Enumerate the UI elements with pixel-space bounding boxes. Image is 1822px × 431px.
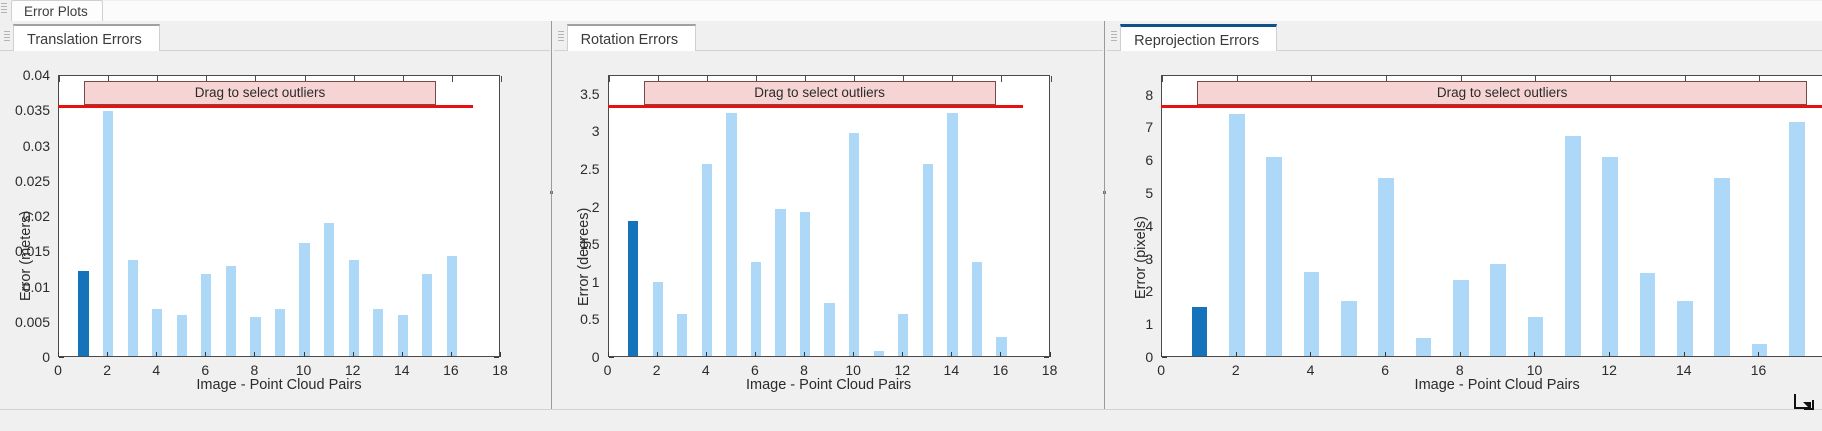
bar[interactable] — [1789, 122, 1805, 356]
x-tick-mark — [951, 352, 952, 357]
bar[interactable] — [299, 243, 309, 357]
x-tick-label: 10 — [296, 362, 312, 378]
y-tick-mark-right — [1044, 357, 1049, 358]
y-tick-label: 0.02 — [0, 208, 50, 224]
bar[interactable] — [726, 113, 736, 356]
x-tick-mark — [1534, 352, 1535, 357]
plot-rotation-errors: Error (degrees) 00.511.522.533.5 Drag to… — [554, 51, 1104, 409]
bar[interactable] — [226, 266, 236, 356]
bar[interactable] — [349, 260, 359, 356]
bar[interactable] — [1229, 114, 1245, 356]
panel-1-tabbar: Translation Errors — [0, 21, 550, 51]
bar[interactable] — [874, 351, 884, 356]
bar[interactable] — [1341, 301, 1357, 356]
x-tick-mark — [1000, 352, 1001, 357]
y-tick-label: 7 — [1107, 119, 1153, 135]
x-tick-mark — [205, 352, 206, 357]
top-tick-mark — [609, 76, 610, 82]
x-tick-label: 18 — [1042, 362, 1058, 378]
y-tick-mark-right — [494, 357, 499, 358]
x-tick-label: 0 — [1157, 362, 1165, 378]
panel-translation-errors: Translation Errors Error (meters) 00.005… — [0, 21, 550, 409]
y-tick-label: 0 — [554, 349, 600, 365]
bar[interactable] — [1490, 264, 1506, 356]
bar[interactable] — [373, 309, 383, 356]
y-tick-label: 4 — [1107, 218, 1153, 234]
y-tick-label: 6 — [1107, 152, 1153, 168]
y-tick-label: 3.5 — [554, 86, 600, 102]
bar[interactable] — [1266, 157, 1282, 356]
x-tick-mark — [902, 352, 903, 357]
axes-3 — [1161, 75, 1822, 357]
panel-3-tabbar: Reprojection Errors — [1107, 21, 1822, 51]
bar[interactable] — [324, 223, 334, 356]
y-tick-label: 0.015 — [0, 243, 50, 259]
x-tick-label: 6 — [1381, 362, 1389, 378]
x-tick-label: 6 — [751, 362, 759, 378]
threshold-line-2[interactable] — [608, 105, 1023, 108]
panel-3-drag-grip-icon[interactable] — [1111, 31, 1117, 43]
bar[interactable] — [1416, 338, 1432, 356]
bar[interactable] — [800, 212, 810, 356]
x-tick-label: 16 — [443, 362, 459, 378]
bottom-status-strip — [0, 409, 1822, 431]
y-tick-label: 1 — [554, 274, 600, 290]
bar[interactable] — [250, 317, 260, 356]
x-tick-mark — [304, 352, 305, 357]
x-tick-label: 2 — [103, 362, 111, 378]
tab-translation-errors[interactable]: Translation Errors — [13, 24, 160, 51]
bar[interactable] — [422, 274, 432, 356]
x-tick-mark — [804, 352, 805, 357]
outlier-selection-band-1[interactable]: Drag to select outliers — [84, 81, 436, 105]
x-tick-mark — [1310, 352, 1311, 357]
y-tick-label: 2.5 — [554, 161, 600, 177]
x-tick-label: 16 — [993, 362, 1009, 378]
y-tick-label: 8 — [1107, 87, 1153, 103]
x-tick-label: 10 — [1527, 362, 1543, 378]
bar[interactable] — [972, 262, 982, 356]
x-tick-mark — [500, 352, 501, 357]
x-tick-label: 2 — [653, 362, 661, 378]
bar[interactable] — [1453, 280, 1469, 356]
x-tick-mark — [1460, 352, 1461, 357]
panel-1-drag-grip-icon[interactable] — [4, 31, 10, 43]
outlier-selection-band-3[interactable]: Drag to select outliers — [1197, 81, 1807, 105]
top-tick-mark — [1162, 76, 1163, 82]
bar[interactable] — [653, 282, 663, 356]
y-tick-label: 0.01 — [0, 279, 50, 295]
x-tick-label: 2 — [1232, 362, 1240, 378]
top-tick-mark — [1001, 76, 1002, 82]
error-plots-window: Error Plots Translation Errors Error (me… — [0, 0, 1822, 430]
x-tick-mark — [1684, 352, 1685, 357]
x-tick-mark — [657, 352, 658, 357]
bar[interactable] — [1528, 317, 1544, 356]
y-tick-label: 5 — [1107, 185, 1153, 201]
x-tick-label: 12 — [894, 362, 910, 378]
y-tick-label: 3 — [1107, 251, 1153, 267]
bar[interactable] — [177, 315, 187, 356]
panel-reprojection-errors: Reprojection Errors Error (pixels) 01234… — [1107, 21, 1822, 409]
x-tick-mark — [1385, 352, 1386, 357]
x-tick-mark — [755, 352, 756, 357]
bar[interactable] — [78, 271, 88, 356]
panel-2-drag-grip-icon[interactable] — [558, 31, 564, 43]
top-tick-mark — [1051, 76, 1052, 82]
y-tick-label: 0.5 — [554, 311, 600, 327]
x-tick-label: 14 — [944, 362, 960, 378]
x-tick-label: 12 — [1601, 362, 1617, 378]
tab-error-plots[interactable]: Error Plots — [11, 0, 103, 22]
plot-reprojection-errors: Error (pixels) 012345678 Drag to select … — [1107, 51, 1822, 409]
y-tick-label: 1.5 — [554, 236, 600, 252]
top-tick-mark — [501, 76, 502, 82]
x-tick-label: 16 — [1751, 362, 1767, 378]
outlier-selection-band-2[interactable]: Drag to select outliers — [644, 81, 996, 105]
bar[interactable] — [775, 209, 785, 356]
y-tick-label: 0.005 — [0, 314, 50, 330]
x-tick-label: 4 — [702, 362, 710, 378]
x-tick-label: 8 — [800, 362, 808, 378]
y-tick-mark — [59, 357, 64, 358]
x-tick-mark — [1161, 352, 1162, 357]
bar[interactable] — [398, 315, 408, 356]
document-tab-strip-filler — [103, 1, 1822, 22]
y-tick-label: 0 — [1107, 349, 1153, 365]
x-tick-label: 12 — [345, 362, 361, 378]
bar[interactable] — [447, 256, 457, 356]
bar[interactable] — [1602, 157, 1618, 356]
x-tick-mark — [706, 352, 707, 357]
bar[interactable] — [103, 111, 113, 356]
y-tick-label: 1 — [1107, 316, 1153, 332]
plot-panels-container: Translation Errors Error (meters) 00.005… — [0, 21, 1822, 409]
x-tick-mark — [353, 352, 354, 357]
y-tick-label: 0.035 — [0, 102, 50, 118]
x-tick-label: 14 — [394, 362, 410, 378]
bar[interactable] — [947, 113, 957, 356]
y-tick-label: 0.025 — [0, 173, 50, 189]
bar[interactable] — [1304, 272, 1320, 356]
bar[interactable] — [996, 337, 1006, 356]
x-axis-label-3: Image - Point Cloud Pairs — [1415, 377, 1580, 393]
x-tick-mark — [1236, 352, 1237, 357]
y-tick-label: 0 — [0, 349, 50, 365]
y-tick-label: 2 — [1107, 283, 1153, 299]
x-tick-mark — [1609, 352, 1610, 357]
y-tick-label: 0.04 — [0, 67, 50, 83]
bar[interactable] — [677, 314, 687, 356]
bar[interactable] — [275, 309, 285, 356]
x-tick-mark — [608, 352, 609, 357]
axes-1 — [58, 75, 500, 357]
bar[interactable] — [702, 164, 712, 357]
x-tick-label: 4 — [152, 362, 160, 378]
x-tick-mark — [853, 352, 854, 357]
x-tick-label: 18 — [492, 362, 508, 378]
bar[interactable] — [1192, 307, 1208, 356]
x-tick-mark — [156, 352, 157, 357]
x-axis-label-2: Image - Point Cloud Pairs — [746, 377, 911, 393]
tab-rotation-errors[interactable]: Rotation Errors — [567, 24, 697, 51]
x-tick-mark — [1050, 352, 1051, 357]
x-tick-mark — [1758, 352, 1759, 357]
bar[interactable] — [628, 221, 638, 356]
x-tick-mark — [402, 352, 403, 357]
x-tick-label: 6 — [201, 362, 209, 378]
y-tick-mark — [1162, 357, 1167, 358]
x-tick-mark — [451, 352, 452, 357]
bar[interactable] — [923, 164, 933, 357]
y-tick-label: 3 — [554, 123, 600, 139]
x-tick-label: 8 — [1456, 362, 1464, 378]
drag-grip-icon[interactable] — [1, 3, 7, 16]
y-tick-mark — [609, 357, 614, 358]
x-tick-label: 14 — [1676, 362, 1692, 378]
bar[interactable] — [1714, 178, 1730, 356]
x-tick-mark — [107, 352, 108, 357]
threshold-line-1[interactable] — [58, 105, 473, 108]
bar[interactable] — [201, 274, 211, 356]
bar[interactable] — [152, 309, 162, 356]
bar[interactable] — [849, 133, 859, 356]
y-axis-label-2: Error (degrees) — [576, 208, 592, 306]
top-tick-mark — [452, 76, 453, 82]
y-tick-label: 0.03 — [0, 138, 50, 154]
y-tick-label: 2 — [554, 199, 600, 215]
threshold-line-3[interactable] — [1161, 105, 1822, 108]
panel-2-tabbar: Rotation Errors — [554, 21, 1104, 51]
bar[interactable] — [898, 314, 908, 356]
x-tick-label: 8 — [251, 362, 259, 378]
x-tick-label: 10 — [845, 362, 861, 378]
x-tick-label: 0 — [604, 362, 612, 378]
bar[interactable] — [128, 260, 138, 356]
top-tick-mark — [59, 76, 60, 82]
bar[interactable] — [1640, 273, 1656, 356]
x-tick-label: 0 — [54, 362, 62, 378]
plot-translation-errors: Error (meters) 00.0050.010.0150.020.0250… — [0, 51, 550, 409]
bar[interactable] — [824, 303, 834, 356]
tab-reprojection-errors[interactable]: Reprojection Errors — [1120, 24, 1277, 51]
x-tick-mark — [254, 352, 255, 357]
x-tick-label: 4 — [1307, 362, 1315, 378]
panel-rotation-errors: Rotation Errors Error (degrees) 00.511.5… — [554, 21, 1104, 409]
axes-2 — [608, 75, 1050, 357]
bar[interactable] — [1677, 301, 1693, 356]
document-tab-strip: Error Plots — [0, 0, 1822, 21]
bar[interactable] — [751, 262, 761, 356]
x-axis-label-1: Image - Point Cloud Pairs — [196, 377, 361, 393]
bar[interactable] — [1565, 136, 1581, 356]
x-tick-mark — [58, 352, 59, 357]
bar[interactable] — [1378, 178, 1394, 356]
